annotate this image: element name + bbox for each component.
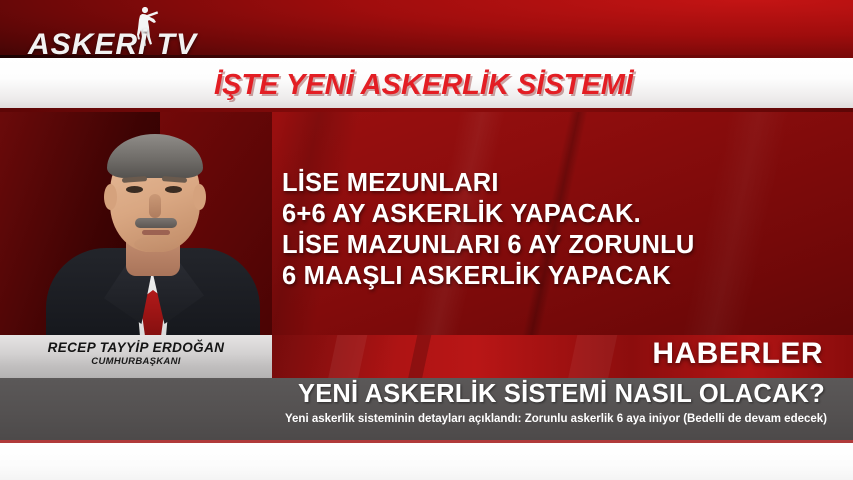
band-streak xyxy=(402,335,435,378)
mustache-shape xyxy=(135,218,177,228)
speaker-photo xyxy=(0,112,272,335)
channel-logo-text: ASKERİ TV xyxy=(28,28,197,62)
bulletin-text-block: LİSE MEZUNLARI 6+6 AY ASKERLİK YAPACAK. … xyxy=(282,168,842,292)
ticker-headline: YENİ ASKERLİK SİSTEMİ NASIL OLACAK? xyxy=(298,380,825,409)
news-ticker: YENİ ASKERLİK SİSTEMİ NASIL OLACAK? Yeni… xyxy=(0,378,853,443)
bulletin-line: 6+6 AY ASKERLİK YAPACAK. xyxy=(282,199,842,230)
band-streak xyxy=(322,335,371,378)
band-streak xyxy=(562,335,621,378)
bulletin-line: LİSE MEZUNLARI xyxy=(282,168,842,199)
headline-band: İŞTE YENİ ASKERLİK SİSTEMİ xyxy=(0,58,853,112)
mouth-shape xyxy=(142,230,170,235)
channel-logo: ASKERİ TV xyxy=(28,6,228,58)
bulletin-line: 6 MAAŞLI ASKERLİK YAPACAK xyxy=(282,261,842,292)
portrait-figure xyxy=(52,120,252,335)
bottom-white-strip xyxy=(0,443,853,480)
chin-shape xyxy=(134,236,178,252)
eye-left-shape xyxy=(126,186,143,193)
broadcast-screen: ASKERİ TV İŞTE YENİ ASKERLİK SİSTEMİ xyxy=(0,0,853,480)
nose-shape xyxy=(149,194,161,218)
top-branding-strip: ASKERİ TV xyxy=(0,0,853,58)
speaker-caption: RECEP TAYYİP ERDOĞAN CUMHURBAŞKANI xyxy=(0,335,272,378)
bulletin-line: LİSE MAZUNLARI 6 AY ZORUNLU xyxy=(282,230,842,261)
program-band: HABERLER xyxy=(272,335,853,378)
speaker-name: RECEP TAYYİP ERDOĞAN xyxy=(0,340,272,355)
hair-shape xyxy=(107,134,203,178)
headline-text: İŞTE YENİ ASKERLİK SİSTEMİ xyxy=(214,69,633,102)
ear-left-shape xyxy=(104,184,117,210)
speaker-title: CUMHURBAŞKANI xyxy=(0,356,272,367)
program-label: HABERLER xyxy=(652,337,823,371)
eye-right-shape xyxy=(165,186,182,193)
ear-right-shape xyxy=(193,184,206,210)
ticker-subtext: Yeni askerlik sisteminin detayları açıkl… xyxy=(285,413,827,425)
